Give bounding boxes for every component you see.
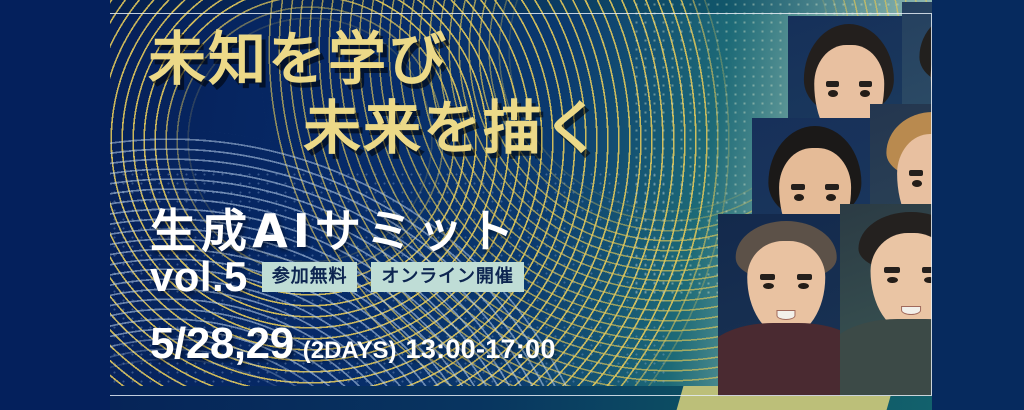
date-row: 5/28,29 (2DAYS) 13:00-17:00 xyxy=(150,322,556,366)
badge-online-event: オンライン開催 xyxy=(371,262,523,293)
right-gutter xyxy=(932,0,1024,410)
speaker-photo-8 xyxy=(840,204,932,396)
event-time: 13:00-17:00 xyxy=(406,336,556,363)
event-duration: (2DAYS) xyxy=(303,339,397,363)
badge-free-admission: 参加無料 xyxy=(262,262,358,293)
event-dates: 5/28,29 xyxy=(150,322,294,366)
event-banner: 未知を学び 未来を描く 生成AIサミット vol.5 参加無料 オンライン開催 … xyxy=(0,0,1024,410)
event-title: 生成AIサミット xyxy=(150,195,519,261)
headline-line-2: 未来を描く xyxy=(148,95,603,162)
volume-and-badges-row: vol.5 参加無料 オンライン開催 xyxy=(150,256,524,298)
speaker-photo-collage xyxy=(670,0,932,396)
volume-label: vol.5 xyxy=(150,256,248,298)
headline-line-1: 未知を学び xyxy=(148,25,448,93)
left-gutter xyxy=(0,0,110,410)
headline: 未知を学び 未来を描く xyxy=(148,26,603,163)
speaker-photo-7 xyxy=(718,214,854,396)
